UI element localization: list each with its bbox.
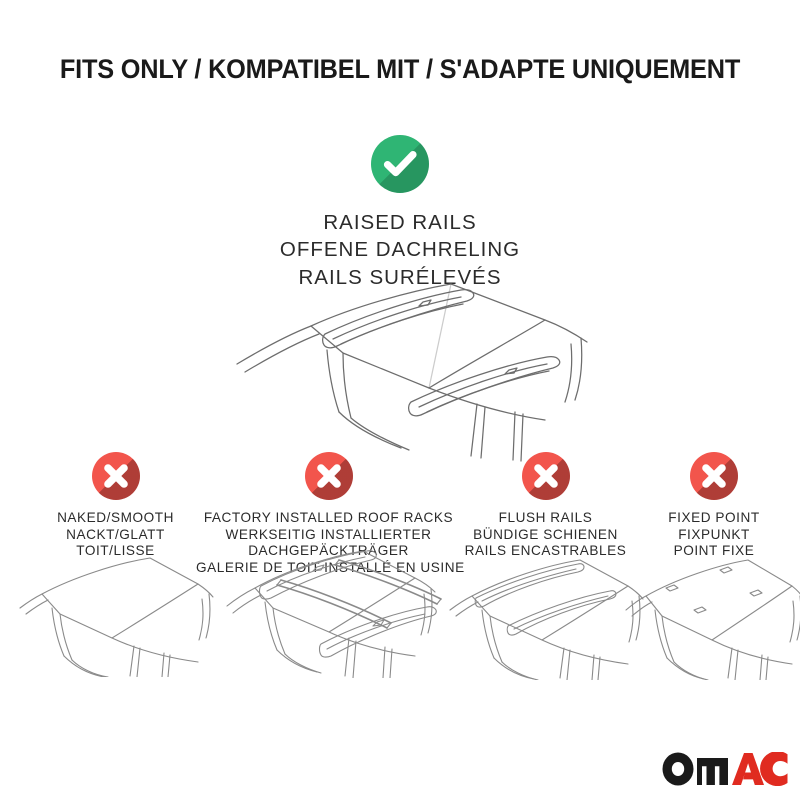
compatible-label-de: OFFENE DACHRELING [0, 236, 800, 263]
car-roof-flush-rails-illustration [446, 552, 646, 680]
x-circle-icon [690, 452, 738, 500]
label-de: NACKT/GLATT [8, 527, 223, 544]
incompatible-card-factory-rack: FACTORY INSTALLED ROOF RACKS WERKSEITIG … [196, 452, 461, 576]
compatible-section: RAISED RAILS OFFENE DACHRELING RAILS SUR… [0, 135, 800, 291]
label-en: FIXED POINT [628, 510, 800, 527]
car-roof-fixed-point-illustration [624, 552, 800, 680]
incompatible-card-flush-rails: FLUSH RAILS BÜNDIGE SCHIENEN RAILS ENCAS… [448, 452, 643, 560]
label-de: FIXPUNKT [628, 527, 800, 544]
logo-letter-a [732, 753, 764, 785]
label-en: FLUSH RAILS [448, 510, 643, 527]
logo-letter-o [663, 753, 694, 786]
x-circle-icon [92, 452, 140, 500]
incompatible-section: NAKED/SMOOTH NACKT/GLATT TOIT/LISSE [0, 452, 800, 702]
car-roof-factory-rack-illustration [211, 538, 447, 678]
label-en: FACTORY INSTALLED ROOF RACKS [196, 510, 461, 527]
label-en: NAKED/SMOOTH [8, 510, 223, 527]
car-roof-naked-smooth-illustration [16, 552, 216, 677]
x-circle-icon [305, 452, 353, 500]
logo-letter-c [760, 752, 787, 786]
incompatible-card-naked: NAKED/SMOOTH NACKT/GLATT TOIT/LISSE [8, 452, 223, 560]
check-circle-icon [371, 135, 429, 193]
incompatible-card-fixed-point: FIXED POINT FIXPUNKT POINT FIXE [628, 452, 800, 560]
page-title: FITS ONLY / KOMPATIBEL MIT / S'ADAPTE UN… [18, 54, 782, 85]
omac-logo [662, 752, 788, 786]
car-roof-raised-rails-illustration [215, 278, 605, 463]
compatible-label-en: RAISED RAILS [0, 209, 800, 236]
logo-letter-m [697, 758, 728, 785]
product-compatibility-infographic: FITS ONLY / KOMPATIBEL MIT / S'ADAPTE UN… [0, 0, 800, 800]
label-de: BÜNDIGE SCHIENEN [448, 527, 643, 544]
x-circle-icon [522, 452, 570, 500]
